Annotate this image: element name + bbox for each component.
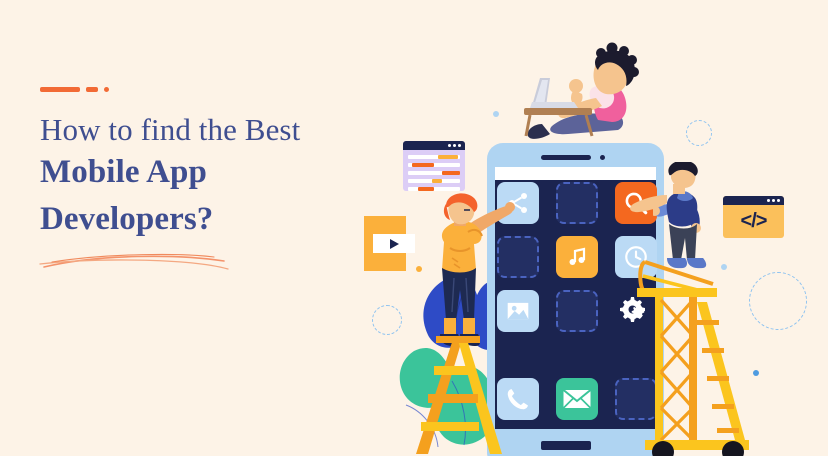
app-icon-grid: [495, 180, 656, 429]
hero-illustration: </>: [340, 0, 828, 456]
window-dot-1: [448, 144, 451, 147]
dashed-circle-top-right: [686, 120, 712, 146]
phone-camera-dot: [600, 155, 605, 160]
page-title-line-2: Mobile App: [40, 149, 370, 196]
window-dot-2: [772, 199, 775, 202]
video-player-tile[interactable]: [364, 216, 406, 271]
code-row: [408, 187, 460, 191]
dot-left-mid: [493, 111, 499, 117]
code-row: [408, 179, 460, 183]
phone-home-bar: [541, 441, 591, 450]
headline-block: How to find the Best Mobile App Develope…: [40, 84, 370, 243]
music-note-icon: [565, 245, 589, 269]
mail-app-icon[interactable]: [556, 378, 598, 420]
window-title-bar: [403, 141, 465, 150]
accent-dash-short: [86, 87, 98, 92]
code-tag-window[interactable]: </>: [723, 196, 784, 238]
hero-banner: How to find the Best Mobile App Develope…: [0, 0, 828, 456]
brush-underline-swoosh: [38, 248, 238, 276]
window-dot-1: [767, 199, 770, 202]
window-dot-2: [453, 144, 456, 147]
developer-at-desk: [512, 40, 652, 150]
page-title-line-3: Developers?: [40, 196, 370, 243]
video-screen: [373, 234, 415, 253]
scaffold-lift: [635, 258, 775, 456]
accent-dash-long: [40, 87, 80, 92]
mail-envelope-icon: [562, 387, 592, 411]
step-ladder: [406, 336, 516, 456]
code-row: [408, 171, 460, 175]
window-dot-3: [777, 199, 780, 202]
window-content-rows: [403, 150, 465, 191]
dash-dash-dot-accent: [40, 84, 370, 94]
accent-dot: [104, 87, 109, 92]
code-row: [408, 163, 460, 167]
placeholder-app-1[interactable]: [556, 182, 598, 224]
window-dot-3: [458, 144, 461, 147]
music-app-icon[interactable]: [556, 236, 598, 278]
phone-speaker: [541, 155, 591, 160]
placeholder-app-3[interactable]: [556, 290, 598, 332]
play-icon: [388, 238, 400, 250]
code-row: [408, 155, 460, 159]
page-title-line-1: How to find the Best: [40, 111, 370, 149]
pointing-hand-icon: [617, 193, 667, 215]
code-editor-window[interactable]: [403, 141, 465, 191]
window-title-bar: [723, 196, 784, 205]
code-tag-label: </>: [723, 205, 784, 238]
